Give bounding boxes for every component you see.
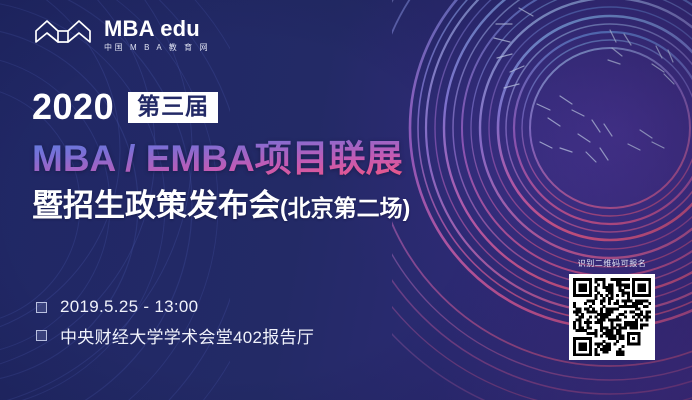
year-label: 2020 bbox=[32, 89, 114, 125]
sub-title-row: 暨招生政策发布会(北京第二场) bbox=[32, 189, 572, 224]
logo-subtitle: 中国 M B A 教 育 网 bbox=[104, 44, 210, 52]
qr-code-frame[interactable] bbox=[569, 274, 655, 360]
main-title: MBA / EMBA项目联展 bbox=[32, 138, 572, 179]
event-datetime: 2019.5.25 - 13:00 bbox=[60, 297, 198, 317]
qr-registration-block[interactable]: 识别二维码可报名 bbox=[566, 258, 658, 360]
sub-title: 暨招生政策发布会 bbox=[32, 188, 280, 223]
sub-title-parenthetical: (北京第二场) bbox=[280, 195, 410, 221]
detail-row-datetime: 2019.5.25 - 13:00 bbox=[36, 293, 314, 321]
edition-badge: 第三届 bbox=[128, 92, 218, 123]
event-venue: 中央财经大学学术会堂402报告厅 bbox=[60, 323, 314, 348]
square-bullet-icon bbox=[36, 302, 47, 313]
qr-caption: 识别二维码可报名 bbox=[578, 258, 647, 269]
brand-logo: MBA edu 中国 M B A 教 育 网 bbox=[34, 18, 210, 52]
logo-title: MBA edu bbox=[104, 18, 210, 40]
headline-block: 2020 第三届 MBA / EMBA项目联展 暨招生政策发布会(北京第二场) bbox=[32, 86, 572, 224]
detail-row-venue: 中央财经大学学术会堂402报告厅 bbox=[36, 321, 314, 349]
square-bullet-icon bbox=[36, 330, 47, 341]
event-details: 2019.5.25 - 13:00 中央财经大学学术会堂402报告厅 bbox=[36, 293, 314, 349]
year-row: 2020 第三届 bbox=[32, 86, 572, 128]
event-poster: MBA edu 中国 M B A 教 育 网 2020 第三届 MBA / EM… bbox=[0, 0, 692, 400]
qr-code-icon[interactable] bbox=[573, 278, 651, 356]
mba-edu-mountain-mark bbox=[34, 18, 92, 52]
